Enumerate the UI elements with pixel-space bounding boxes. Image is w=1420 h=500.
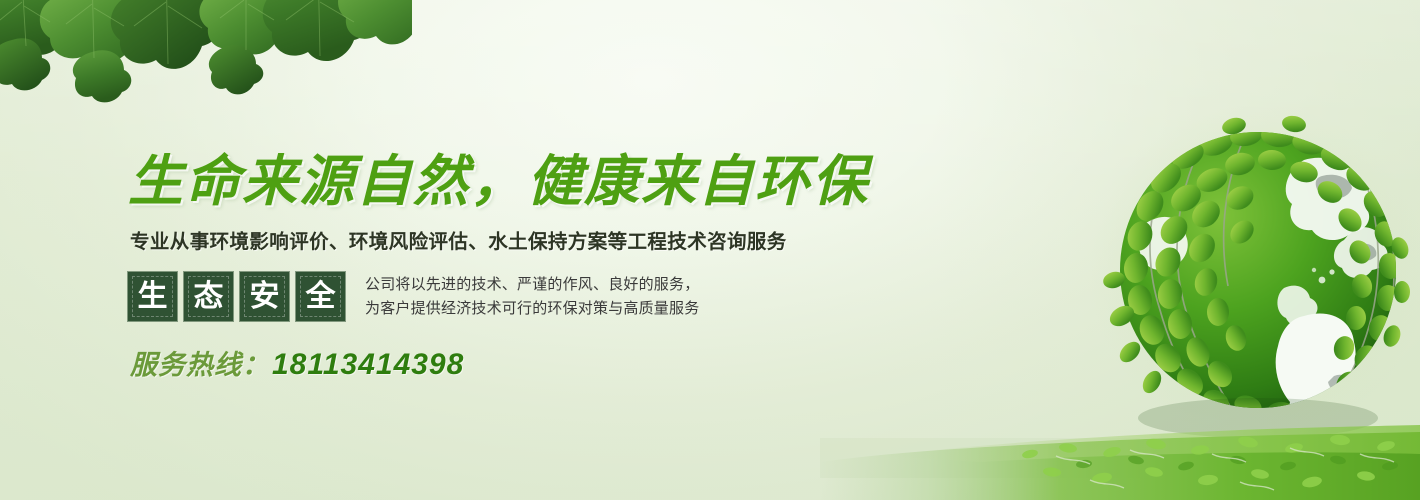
hotline-label: 服务热线： (130, 350, 270, 380)
banner-content: 生命来源自然，健康来自环保 专业从事环境影响评价、环境风险评估、水土保持方案等工… (128, 152, 888, 382)
hotline-number[interactable]: 18113414398 (272, 348, 464, 381)
banner-subtitle: 专业从事环境影响评价、环境风险评估、水土保持方案等工程技术咨询服务 (130, 225, 888, 254)
tagline-line-1: 公司将以先进的技术、严谨的作风、良好的服务， (365, 273, 699, 297)
stamps-and-tagline-row: 生 态 安 全 公司将以先进的技术、严谨的作风、良好的服务， 为客户提供经济技术… (128, 272, 888, 321)
eco-consulting-banner: 生命来源自然，健康来自环保 专业从事环境影响评价、环境风险评估、水土保持方案等工… (0, 0, 1420, 500)
leaf-ground-icon (820, 410, 1420, 500)
eco-safety-stamp-group: 生 态 安 全 (128, 272, 345, 321)
stamp-character-2: 态 (184, 272, 233, 321)
green-earth-globe-icon (1108, 120, 1408, 450)
company-tagline: 公司将以先进的技术、严谨的作风、良好的服务， 为客户提供经济技术可行的环保对策与… (365, 273, 699, 322)
stamp-character-3: 安 (240, 272, 289, 321)
ivy-leaves-icon (0, 0, 412, 140)
page-title: 生命来源自然，健康来自环保 (128, 152, 888, 211)
tagline-line-2: 为客户提供经济技术可行的环保对策与高质量服务 (365, 297, 699, 321)
service-hotline: 服务热线：18113414398 (130, 343, 888, 382)
stamp-character-4: 全 (296, 272, 345, 321)
stamp-character-1: 生 (128, 272, 177, 321)
